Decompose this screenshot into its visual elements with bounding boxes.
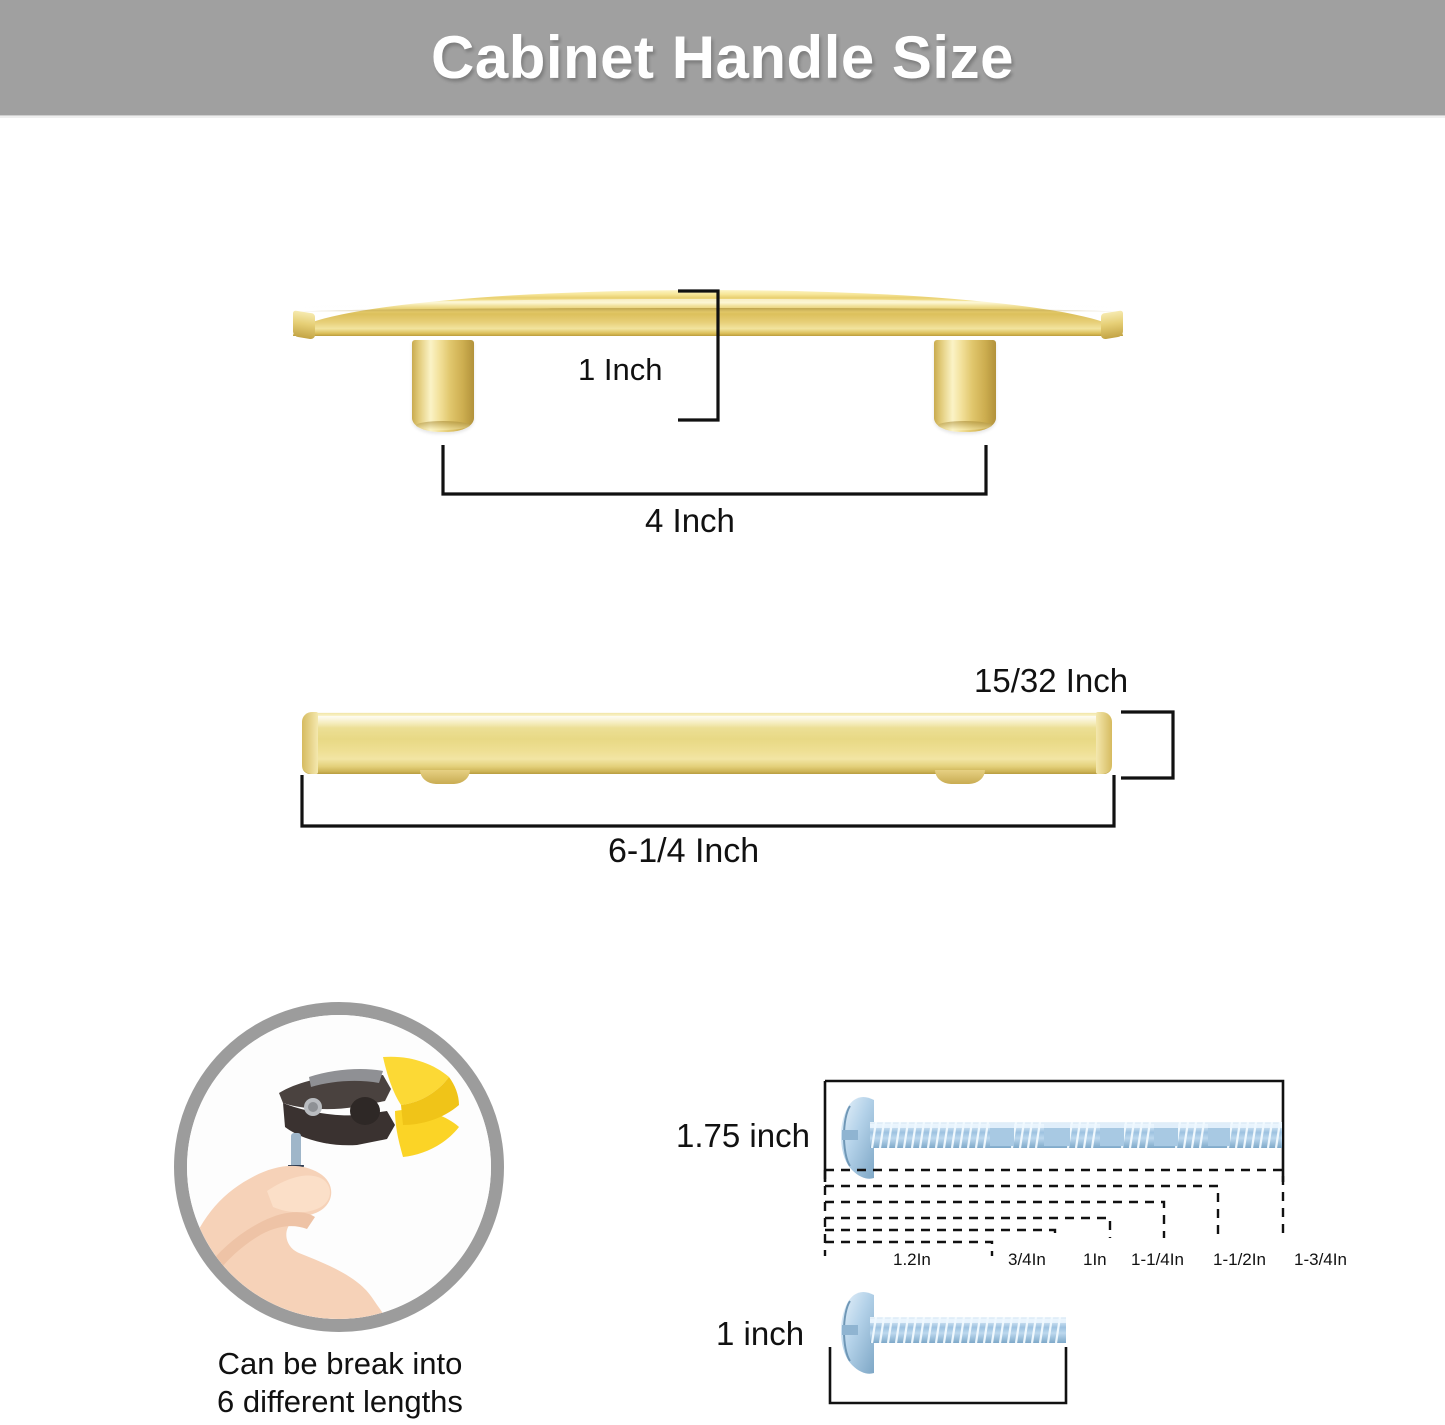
- break-length-label-3: 1-1/4In: [1131, 1250, 1184, 1270]
- long-screw-length-label: 1.75 inch: [676, 1117, 810, 1155]
- handle-top-bar-highlight: [310, 716, 1104, 728]
- center-to-center-dimension-bracket: [430, 442, 1000, 504]
- break-length-label-2: 1In: [1083, 1250, 1107, 1270]
- break-length-label-5: 1-3/4In: [1294, 1250, 1347, 1270]
- short-screw-graphic: [820, 1285, 1090, 1415]
- break-length-label-4: 1-1/2In: [1213, 1250, 1266, 1270]
- page-header: Cabinet Handle Size: [0, 0, 1445, 115]
- center-to-center-dimension-label: 4 Inch: [645, 502, 735, 540]
- page-title: Cabinet Handle Size: [431, 23, 1014, 92]
- handle-top-bar-end-left: [302, 712, 318, 774]
- overall-length-dimension-bracket: [290, 772, 1130, 834]
- handle-top-view-section: 15/32 Inch 6-1/4 Inch: [0, 640, 1445, 900]
- handle-bar-end-left: [293, 310, 315, 339]
- break-length-label-1: 3/4In: [1008, 1250, 1046, 1270]
- depth-dimension-label: 15/32 Inch: [974, 662, 1128, 700]
- long-screw-graphic: [820, 1078, 1300, 1308]
- break-length-label-0: 1.2In: [893, 1250, 931, 1270]
- handle-bar-end-right: [1101, 310, 1123, 339]
- handle-post-right: [934, 340, 996, 432]
- header-divider: [0, 115, 1445, 118]
- handle-top-bar-end-right: [1096, 712, 1112, 774]
- overall-length-dimension-label: 6-1/4 Inch: [608, 832, 759, 871]
- height-dimension-label: 1 Inch: [578, 352, 662, 388]
- screw-section: 1.75 inch: [0, 1060, 1445, 1425]
- handle-post-right-foot: [938, 421, 992, 430]
- handle-post-left: [412, 340, 474, 432]
- infographic-page: Cabinet Handle Size 1 Inch 4 Inch: [0, 0, 1445, 1425]
- handle-front-view-section: 1 Inch 4 Inch: [0, 230, 1445, 560]
- handle-post-left-foot: [416, 421, 470, 430]
- short-screw-length-label: 1 inch: [716, 1315, 804, 1353]
